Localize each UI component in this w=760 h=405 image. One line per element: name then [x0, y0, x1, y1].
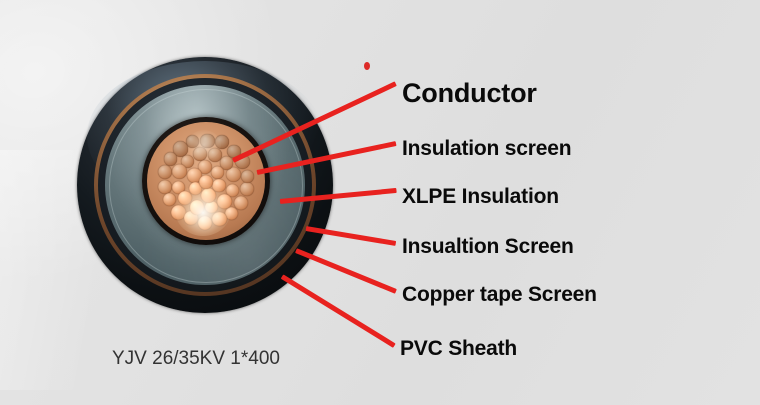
conductor-strand [240, 182, 255, 197]
conductor-strand [193, 147, 208, 162]
conductor-strand [200, 134, 215, 149]
conductor-strand [211, 166, 224, 179]
callout-label-insulation-screen-outer: Insualtion Screen [402, 235, 574, 259]
conductor-strand [190, 200, 205, 215]
figure-canvas: ConductorInsulation screenXLPE Insulatio… [0, 0, 760, 405]
figure-caption: YJV 26/35KV 1*400 [112, 348, 280, 370]
conductor-strand [226, 167, 241, 182]
callout-label-conductor: Conductor [402, 78, 537, 109]
conductor-strand [186, 135, 199, 148]
conductor-strand [212, 212, 227, 227]
conductor-strand [198, 216, 212, 230]
cable-cross-section [77, 57, 333, 313]
conductor-strand [163, 193, 176, 206]
conductor-strand [164, 152, 177, 165]
callout-label-insulation-screen-inner: Insulation screen [402, 137, 571, 161]
callout-label-pvc-sheath: PVC Sheath [400, 337, 517, 361]
conductor-strand [158, 165, 172, 179]
conductor-strand [215, 135, 229, 149]
conductor-layer [147, 122, 265, 240]
conductor-strand [241, 170, 254, 183]
conductor-strand [199, 175, 213, 189]
conductor-strand [234, 196, 248, 210]
conductor-strand [208, 148, 222, 162]
conductor-strand [212, 179, 225, 192]
callout-label-xlpe-insulation: XLPE Insulation [402, 185, 559, 209]
callout-label-copper-tape-screen: Copper tape Screen [402, 283, 597, 307]
conductor-strand [172, 164, 187, 179]
red-dot-artifact [364, 62, 370, 70]
